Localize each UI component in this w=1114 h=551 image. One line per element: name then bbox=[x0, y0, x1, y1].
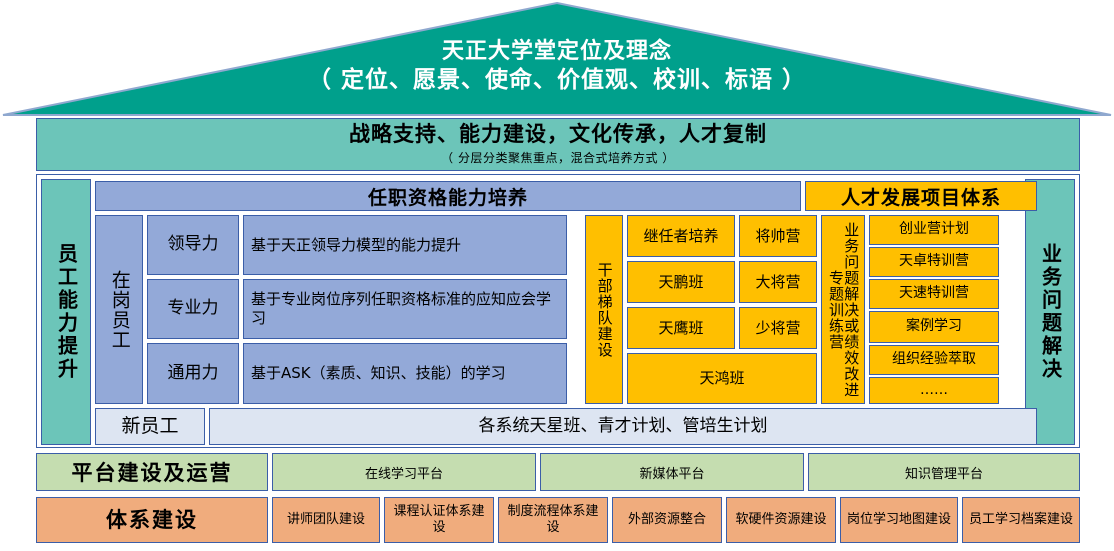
talent-item-tianhong[interactable]: 天鸿班 bbox=[627, 353, 817, 404]
talent-item-tianzhuo[interactable]: 天卓特训营 bbox=[869, 247, 999, 277]
system-item-trainer-team[interactable]: 讲师团队建设 bbox=[272, 497, 380, 543]
group-label-onjob-employee: 在岗员工 bbox=[95, 215, 143, 404]
system-item-external-resources[interactable]: 外部资源整合 bbox=[612, 497, 722, 543]
ability-desc-professional: 基于专业岗位序列任职资格标准的应知应会学习 bbox=[243, 279, 567, 339]
talent-item-jiangshuai[interactable]: 将帅营 bbox=[739, 215, 817, 257]
strategy-band-main: 战略支持、能力建设，文化传承，人才复制 bbox=[349, 123, 767, 146]
talent-item-ellipsis: …… bbox=[869, 377, 999, 404]
talent-item-startup-plan[interactable]: 创业营计划 bbox=[869, 215, 999, 245]
talent-item-tianying[interactable]: 天鹰班 bbox=[627, 307, 735, 349]
talent-vertical-training-camp: 业务问题解决或绩效改进专题训练营 bbox=[821, 215, 865, 404]
platform-item-knowledge-mgmt[interactable]: 知识管理平台 bbox=[808, 453, 1080, 491]
pillar-business-problem-solving: 业务问题解决 bbox=[1025, 179, 1075, 445]
section-header-talent: 人才发展项目体系 bbox=[805, 181, 1037, 211]
strategy-band: 战略支持、能力建设，文化传承，人才复制 （ 分层分类聚焦重点，混合式培养方式 ） bbox=[36, 118, 1080, 171]
system-item-hardware-software[interactable]: 软硬件资源建设 bbox=[726, 497, 836, 543]
ability-desc-leadership: 基于天正领导力模型的能力提升 bbox=[243, 215, 567, 275]
talent-item-tiansu[interactable]: 天速特训营 bbox=[869, 279, 999, 309]
ability-leadership[interactable]: 领导力 bbox=[147, 215, 239, 275]
diagram-canvas: 天正大学堂定位及理念 （ 定位、愿景、使命、价值观、校训、标语 ） 战略支持、能… bbox=[0, 0, 1114, 551]
section-header-qualification: 任职资格能力培养 bbox=[95, 181, 801, 211]
system-item-learning-map[interactable]: 岗位学习地图建设 bbox=[840, 497, 958, 543]
cadre-echelon-label: 干部梯队建设 bbox=[585, 215, 623, 404]
talent-item-shaojiang[interactable]: 少将营 bbox=[739, 307, 817, 349]
newbie-content: 各系统天星班、青才计划、管培生计划 bbox=[209, 408, 1037, 445]
system-item-course-certification[interactable]: 课程认证体系建设 bbox=[384, 497, 494, 543]
ability-general[interactable]: 通用力 bbox=[147, 343, 239, 404]
newbie-label: 新员工 bbox=[95, 408, 205, 445]
system-item-learning-archive[interactable]: 员工学习档案建设 bbox=[962, 497, 1080, 543]
strategy-band-sub: （ 分层分类聚焦重点，混合式培养方式 ） bbox=[441, 149, 675, 166]
ability-desc-general: 基于ASK（素质、知识、技能）的学习 bbox=[243, 343, 567, 404]
platform-item-new-media[interactable]: 新媒体平台 bbox=[540, 453, 804, 491]
ability-professional[interactable]: 专业力 bbox=[147, 279, 239, 339]
roof-triangle: 天正大学堂定位及理念 （ 定位、愿景、使命、价值观、校训、标语 ） bbox=[0, 0, 1114, 118]
system-item-process-system[interactable]: 制度流程体系建设 bbox=[498, 497, 608, 543]
talent-item-case-study[interactable]: 案例学习 bbox=[869, 311, 999, 343]
pillar-employee-capability: 员工能力提升 bbox=[41, 179, 91, 445]
talent-item-tianpeng[interactable]: 天鹏班 bbox=[627, 261, 735, 303]
talent-item-experience-extraction[interactable]: 组织经验萃取 bbox=[869, 345, 999, 375]
talent-item-dajiang[interactable]: 大将营 bbox=[739, 261, 817, 303]
platform-item-online-learning[interactable]: 在线学习平台 bbox=[272, 453, 536, 491]
system-lead-label: 体系建设 bbox=[36, 497, 268, 543]
talent-item-successor[interactable]: 继任者培养 bbox=[627, 215, 735, 257]
platform-lead-label: 平台建设及运营 bbox=[36, 453, 268, 491]
main-panel: 员工能力提升 业务问题解决 任职资格能力培养 人才发展项目体系 在岗员工 领导力… bbox=[36, 174, 1080, 448]
